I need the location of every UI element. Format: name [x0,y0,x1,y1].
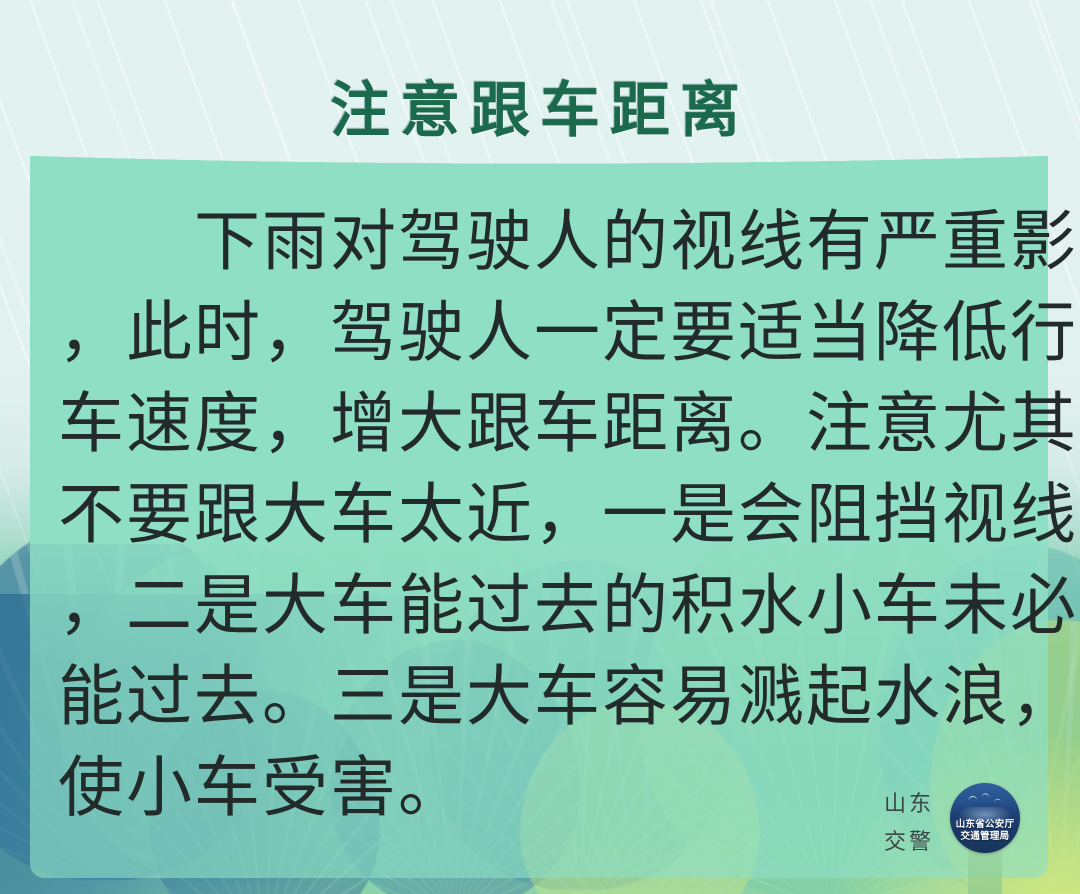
poster-canvas: 注意跟车距离 下雨对驾驶人的视线有严重影响 ，此时，驾驶人一定要适当降低行 车速… [0,0,1080,894]
body-line: ，此时，驾驶人一定要适当降低行 [58,287,1038,378]
body-line: 下雨对驾驶人的视线有严重影响 [58,196,1038,287]
body-line: 车速度，增大跟车距离。注意尤其 [58,378,1038,469]
body-line: 能过去。三是大车容易溅起水浪， [58,651,1038,742]
bird-icon [994,799,1000,803]
bird-icon [968,795,978,801]
body-line: ，二是大车能过去的积水小车未必 [58,560,1038,651]
badge-text-line2: 交通管理局 [950,831,1020,843]
bird-icon [981,793,989,798]
body-line: 不要跟大车太近，一是会阻挡视线 [58,469,1038,560]
badge-text: 山东省公安厅 交通管理局 [950,819,1020,843]
signature-block: 山东 交警 [876,786,942,862]
signature-line-region: 山东 [876,786,942,824]
signature-line-unit: 交警 [876,824,942,862]
body-copy: 下雨对驾驶人的视线有严重影响 ，此时，驾驶人一定要适当降低行 车速度，增大跟车距… [58,196,1038,833]
badge-text-line1: 山东省公安厅 [950,819,1020,831]
agency-badge-logo: 山东省公安厅 交通管理局 [950,783,1020,853]
page-title: 注意跟车距离 [0,62,1080,149]
